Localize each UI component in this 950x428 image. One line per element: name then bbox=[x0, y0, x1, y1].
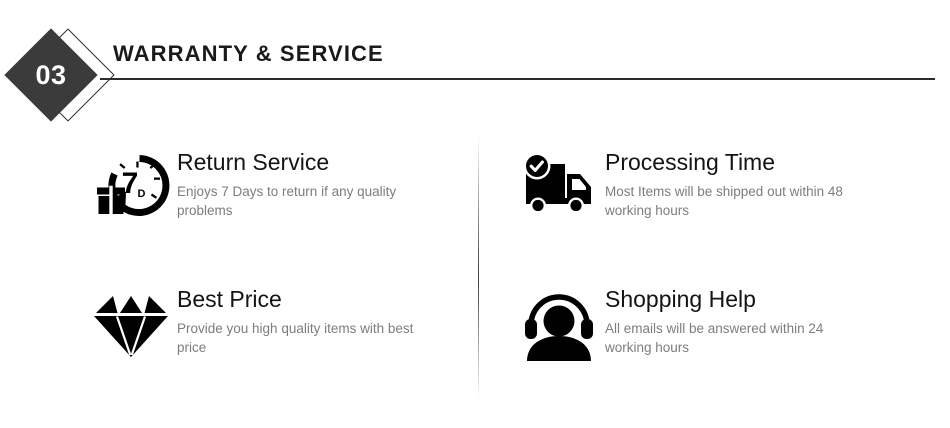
feature-description: Provide you high quality items with best… bbox=[177, 319, 417, 357]
feature-title: Best Price bbox=[177, 285, 417, 314]
section-number-badge: 03 bbox=[6, 32, 116, 128]
return-clock-7-days-gift-icon: 7 D bbox=[85, 148, 177, 224]
svg-text:D: D bbox=[138, 188, 146, 200]
feature-text-block: Processing Time Most Items will be shipp… bbox=[605, 148, 845, 220]
feature-text-block: Shopping Help All emails will be answere… bbox=[605, 285, 845, 357]
section-number-label: 03 bbox=[18, 42, 84, 108]
delivery-truck-check-icon bbox=[513, 148, 605, 218]
feature-processing-time: Processing Time Most Items will be shipp… bbox=[513, 148, 873, 220]
feature-description: Most Items will be shipped out within 48… bbox=[605, 182, 845, 220]
headset-support-agent-icon bbox=[513, 285, 605, 361]
features-grid: 7 D Return Service Enjoys 7 Days to retu… bbox=[0, 130, 950, 400]
feature-best-price: Best Price Provide you high quality item… bbox=[85, 285, 445, 359]
feature-text-block: Best Price Provide you high quality item… bbox=[177, 285, 417, 357]
section-header: 03 WARRANTY & SERVICE bbox=[0, 0, 950, 130]
feature-title: Shopping Help bbox=[605, 285, 845, 314]
feature-description: All emails will be answered within 24 wo… bbox=[605, 319, 845, 357]
page-title: WARRANTY & SERVICE bbox=[113, 40, 384, 68]
svg-text:7: 7 bbox=[122, 167, 139, 200]
column-divider bbox=[478, 135, 479, 400]
feature-description: Enjoys 7 Days to return if any quality p… bbox=[177, 182, 417, 220]
feature-shopping-help: Shopping Help All emails will be answere… bbox=[513, 285, 873, 361]
feature-title: Processing Time bbox=[605, 148, 845, 177]
diamond-gem-icon bbox=[85, 285, 177, 359]
feature-title: Return Service bbox=[177, 148, 417, 177]
feature-text-block: Return Service Enjoys 7 Days to return i… bbox=[177, 148, 417, 220]
warranty-service-banner: 03 WARRANTY & SERVICE bbox=[0, 0, 950, 428]
title-divider-rule bbox=[100, 78, 935, 80]
feature-return-service: 7 D Return Service Enjoys 7 Days to retu… bbox=[85, 148, 445, 224]
